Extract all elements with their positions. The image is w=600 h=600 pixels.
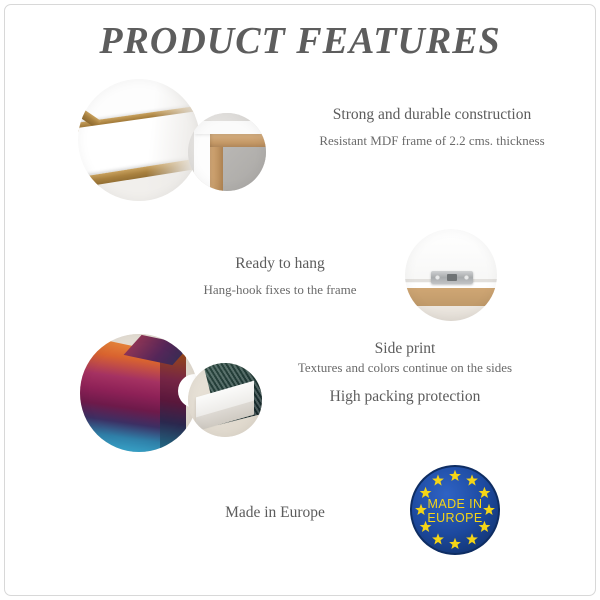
feature-side-print-heading: Side print xyxy=(255,339,555,358)
badge-line-1: MADE IN xyxy=(428,497,483,511)
feature-packing-text: High packing protection xyxy=(255,387,555,406)
frame-wood-band xyxy=(405,288,497,306)
eu-badge-graphic: MADE IN EUROPE xyxy=(409,464,501,556)
product-features-infographic: PRODUCT FEATURES Strong and durable cons… xyxy=(0,0,600,600)
feature-construction-sub: Resistant MDF frame of 2.2 cms. thicknes… xyxy=(272,133,592,149)
frame-backing-panel xyxy=(223,147,266,191)
feature-side-print-text: Side print Textures and colors continue … xyxy=(255,339,555,377)
feature-origin-heading: Made in Europe xyxy=(155,503,395,522)
feature-ready-to-hang-text: Ready to hang Hang-hook fixes to the fra… xyxy=(120,254,440,299)
mdf-frame-edges-photo xyxy=(78,79,200,201)
metal-hook-bar xyxy=(447,274,457,281)
feature-ready-to-hang-heading: Ready to hang xyxy=(120,254,440,273)
canvas-side-print-photo xyxy=(80,334,198,452)
frame-corner-detail-photo xyxy=(188,113,266,191)
badge-line-2: EUROPE xyxy=(427,511,482,525)
frame-white-side-horizontal xyxy=(194,121,262,134)
frame-wood-horizontal xyxy=(210,134,266,147)
feature-packing-heading: High packing protection xyxy=(255,387,555,406)
page-title: PRODUCT FEATURES xyxy=(0,19,600,63)
feature-ready-to-hang-sub: Hang-hook fixes to the frame xyxy=(120,282,440,298)
feature-side-print-sub: Textures and colors continue on the side… xyxy=(255,360,555,376)
made-in-europe-badge: MADE IN EUROPE xyxy=(409,464,501,556)
foam-corner-protector-photo xyxy=(188,363,262,437)
feature-construction-heading: Strong and durable construction xyxy=(272,105,592,124)
feature-construction-text: Strong and durable construction Resistan… xyxy=(272,105,592,150)
hang-hook-photo xyxy=(405,229,497,321)
frame-base-surface xyxy=(405,306,497,321)
feature-origin-text: Made in Europe xyxy=(155,503,395,522)
